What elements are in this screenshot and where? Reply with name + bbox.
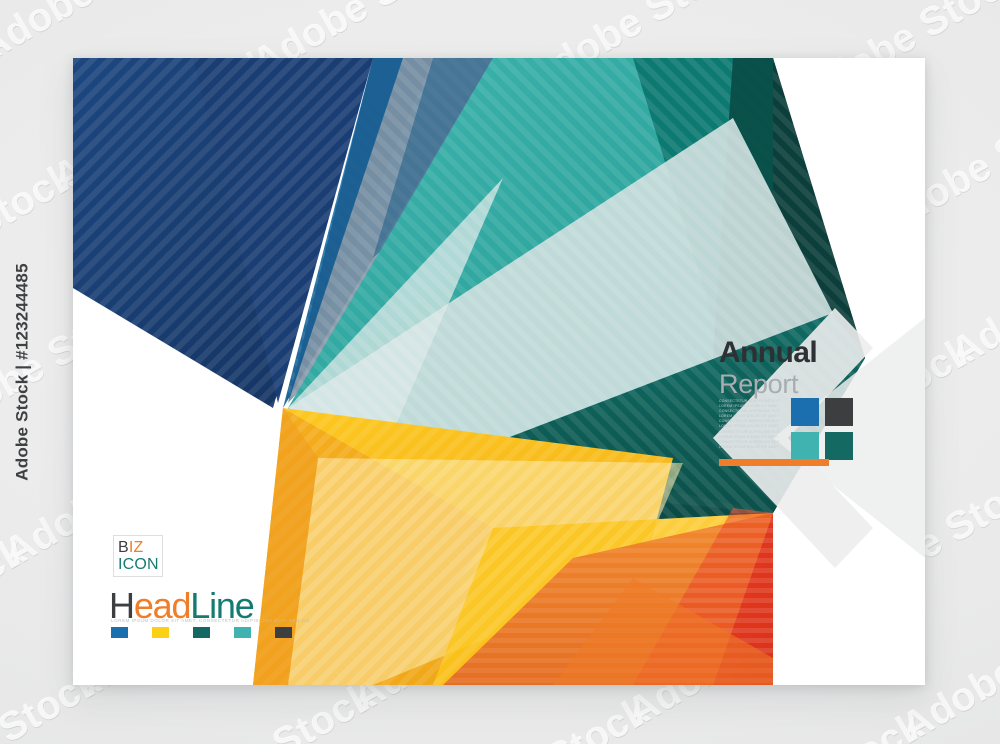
screenshot-stage: Adobe Stock Adobe Stock Adobe Stock Adob… — [0, 0, 1000, 744]
report-heading-block: Annual Report — [719, 338, 909, 398]
report-subtitle: Report — [719, 370, 909, 398]
brand-tagline: LOREM IPSUM DOLOR SIT AMET, CONSECTETUR … — [111, 618, 310, 623]
chip-light-teal — [234, 627, 251, 638]
stock-credit-text: Adobe Stock | #123244485 — [13, 263, 33, 480]
chip-blue — [111, 627, 128, 638]
report-accent-bar — [719, 459, 829, 466]
brand-chip-row — [111, 627, 292, 638]
logo-line-2: ICON — [118, 556, 158, 573]
square-blue — [791, 398, 819, 426]
stock-credit-rail: Adobe Stock | #123244485 — [0, 0, 46, 744]
logo-letter-b: B — [118, 539, 129, 556]
chip-yellow — [152, 627, 169, 638]
report-title: Annual — [719, 338, 909, 369]
lorem-line: LOREM IPSUM DOLOR SIT AMET — [719, 445, 799, 450]
square-dark-teal — [825, 432, 853, 460]
logo-letters-iz: IZ — [129, 539, 144, 556]
logo-line-1: BIZ — [118, 539, 158, 556]
poster-sheet: Annual Report CONSECTETUR ADIPISCING ELI… — [73, 58, 925, 685]
biz-icon-logo: BIZ ICON — [113, 535, 163, 577]
report-swatch-grid — [791, 398, 853, 460]
square-light-teal — [791, 432, 819, 460]
square-dark-gray — [825, 398, 853, 426]
report-body-copy: CONSECTETUR ADIPISCING ELIT LOREM IPSUM … — [719, 399, 799, 450]
chip-dark-gray — [275, 627, 292, 638]
chip-dark-teal — [193, 627, 210, 638]
